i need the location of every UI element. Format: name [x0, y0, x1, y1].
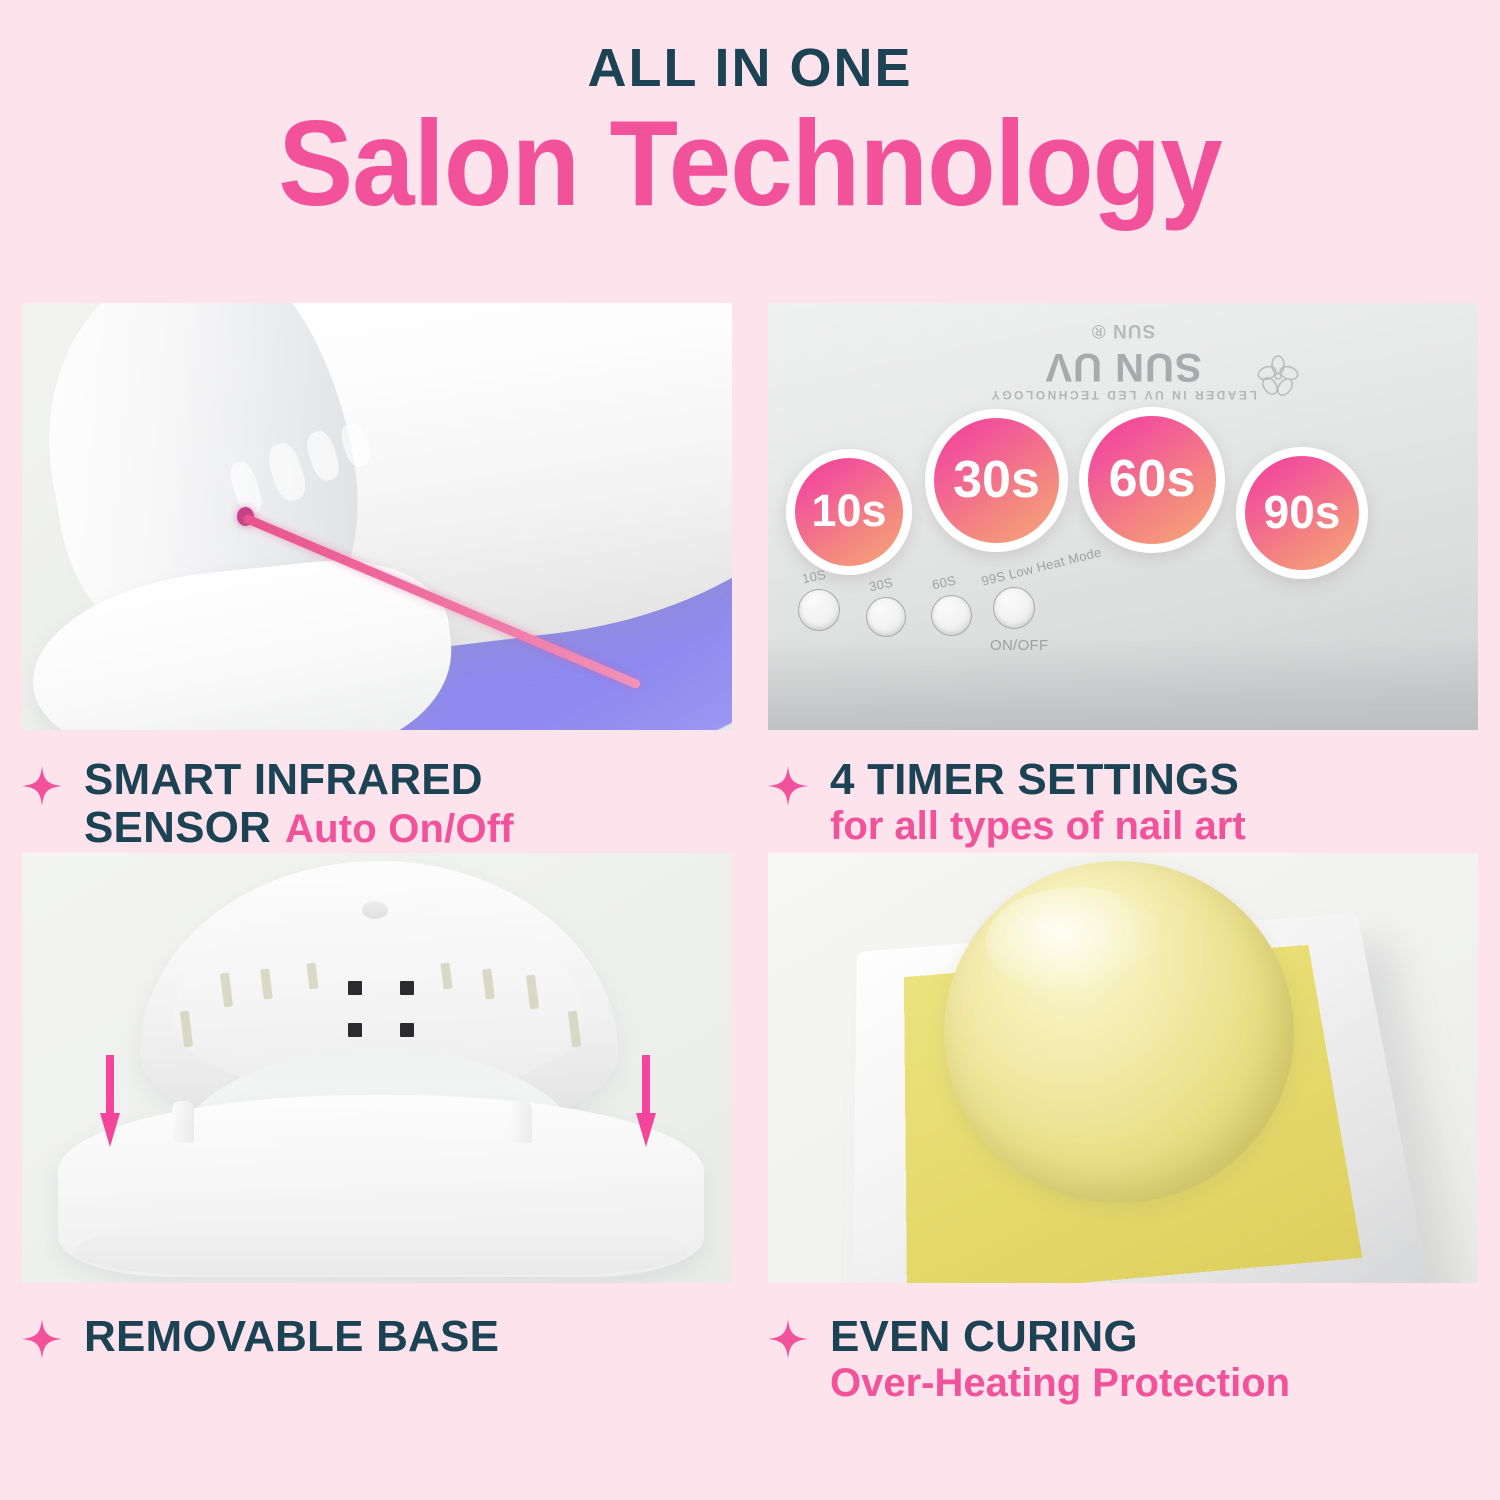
- lens-highlight: [986, 887, 1166, 997]
- base-peg: [172, 1101, 194, 1143]
- feature-card-removable-base: REMOVABLE BASE: [22, 853, 732, 1406]
- led-slot: [348, 1023, 362, 1037]
- button-label-30s: 30S: [868, 575, 895, 595]
- sparkle-icon: [768, 766, 808, 806]
- caption-subtitle: Auto On/Off: [285, 807, 514, 851]
- brand-logo-small: SUN ®: [768, 319, 1478, 341]
- timer-bubble-90s[interactable]: 90s: [1236, 447, 1368, 579]
- physical-button-30s[interactable]: [866, 597, 906, 637]
- timer-bubble-label: 30s: [953, 450, 1040, 510]
- flower-icon: [1256, 355, 1300, 406]
- timer-bubble-group: 10s 30s 60s 90s: [768, 401, 1478, 581]
- base-peg: [510, 1101, 532, 1143]
- brand-name: SUN UV: [768, 347, 1478, 387]
- header: ALL IN ONE Salon Technology: [0, 0, 1500, 225]
- led-slot: [400, 981, 414, 995]
- caption-subtitle: for all types of nail art: [830, 804, 1478, 849]
- caption-smart-infrared-sensor: SMART INFRARED SENSORAuto On/Off: [22, 730, 732, 853]
- down-arrow-icon: [634, 1055, 658, 1151]
- lamp-dome-separating-from-base-photo: [22, 853, 732, 1283]
- brand-logo-block: LEADER IN UV LED TECHNOLOGY SUN UV: [768, 347, 1478, 402]
- header-kicker: ALL IN ONE: [0, 40, 1500, 97]
- feature-card-timer-settings: SUN ® LEADER IN UV LED TECHNOLOGY SUN UV: [768, 303, 1478, 853]
- timer-bubble-10s[interactable]: 10s: [786, 449, 912, 575]
- sensor-dot: [362, 901, 388, 919]
- feature-grid: SMART INFRARED SENSORAuto On/Off SUN ® L…: [22, 303, 1478, 1406]
- caption-even-curing: EVEN CURING Over-Heating Protection: [768, 1283, 1478, 1406]
- tray-lip: [74, 1217, 688, 1275]
- physical-button-10s[interactable]: [798, 589, 840, 631]
- caption-subtitle: Over-Heating Protection: [830, 1361, 1478, 1406]
- caption-removable-base: REMOVABLE BASE: [22, 1283, 732, 1361]
- button-label-on-off: ON/OFF: [990, 637, 1048, 654]
- button-label-60s: 60S: [931, 573, 958, 593]
- lamp-control-panel-photo: SUN ® LEADER IN UV LED TECHNOLOGY SUN UV: [768, 303, 1478, 730]
- led-slot: [348, 981, 362, 995]
- timer-bubble-label: 60s: [1109, 449, 1196, 509]
- feature-card-smart-infrared-sensor: SMART INFRARED SENSORAuto On/Off: [22, 303, 732, 853]
- caption-title: REMOVABLE BASE: [84, 1313, 732, 1361]
- down-arrow-icon: [98, 1055, 122, 1151]
- timer-bubble-label: 10s: [811, 485, 886, 537]
- physical-button-row: 10S 30S 60S 99S Low Heat Mode ON/OFF: [768, 565, 1478, 685]
- feature-card-even-curing: EVEN CURING Over-Heating Protection: [768, 853, 1478, 1406]
- timer-bubble-30s[interactable]: 30s: [925, 409, 1068, 552]
- brand-tagline: LEADER IN UV LED TECHNOLOGY: [768, 388, 1478, 402]
- caption-title: SMART INFRARED: [84, 756, 732, 804]
- caption-title: 4 TIMER SETTINGS: [830, 756, 1478, 804]
- sparkle-icon: [768, 1319, 808, 1359]
- sparkle-icon: [22, 766, 62, 806]
- physical-button-power[interactable]: [993, 587, 1035, 629]
- physical-button-60s[interactable]: [931, 595, 972, 636]
- caption-title: EVEN CURING: [830, 1313, 1478, 1361]
- uv-lamp-infrared-beam-photo: [22, 303, 732, 730]
- led-chip-closeup-photo: [768, 853, 1478, 1283]
- caption-title-line2: SENSOR: [84, 803, 271, 852]
- timer-bubble-60s[interactable]: 60s: [1079, 407, 1225, 553]
- timer-bubble-label: 90s: [1264, 485, 1341, 539]
- sparkle-icon: [22, 1319, 62, 1359]
- led-slot: [400, 1023, 414, 1037]
- button-label-10s: 10S: [801, 567, 828, 587]
- caption-timer-settings: 4 TIMER SETTINGS for all types of nail a…: [768, 730, 1478, 849]
- page-title: Salon Technology: [60, 101, 1440, 225]
